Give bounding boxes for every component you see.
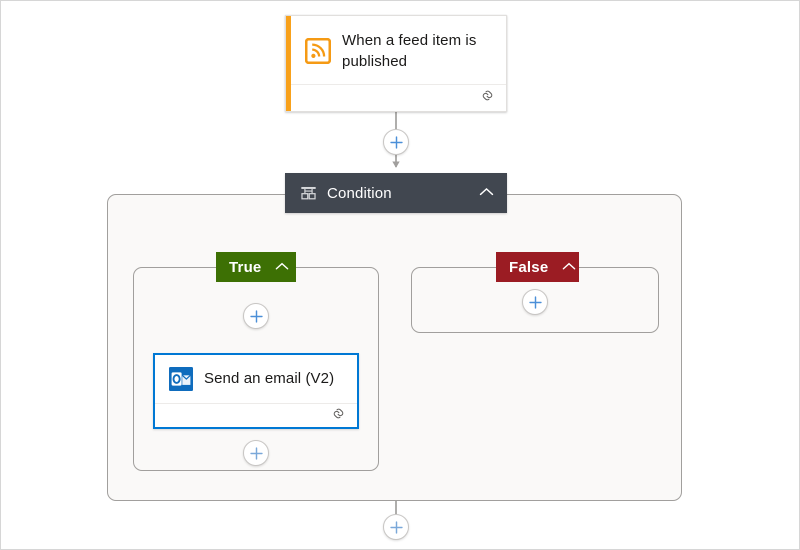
email-card-footer (155, 403, 357, 427)
trigger-card-footer (286, 84, 506, 111)
condition-card-title: Condition (327, 185, 479, 202)
chevron-up-icon[interactable] (275, 258, 289, 276)
add-step-after-trigger-button[interactable] (383, 129, 409, 155)
action-card-send-an-email-v2[interactable]: Send an email (V2) (153, 353, 359, 429)
chain-link-icon[interactable] (480, 88, 495, 108)
trigger-card-when-a-feed-item-is-published[interactable]: When a feed item is published (285, 15, 507, 112)
add-step-after-condition-button[interactable] (383, 514, 409, 540)
add-step-false-branch-button[interactable] (522, 289, 548, 315)
branch-label-true-text: True (229, 259, 261, 276)
add-step-true-before-email-button[interactable] (243, 303, 269, 329)
trigger-card-body: When a feed item is published (286, 16, 506, 84)
chain-link-icon[interactable] (331, 406, 346, 426)
trigger-accent-bar (286, 16, 291, 111)
branch-label-true[interactable]: True (216, 252, 296, 282)
trigger-card-title: When a feed item is published (342, 30, 492, 73)
email-card-body: Send an email (V2) (155, 355, 357, 403)
condition-card-header[interactable]: Condition (285, 173, 507, 213)
outlook-icon (169, 367, 193, 391)
flow-designer-canvas: When a feed item is published (0, 0, 800, 550)
condition-icon (300, 185, 317, 202)
chevron-up-icon[interactable] (562, 258, 576, 276)
email-card-title: Send an email (V2) (204, 368, 336, 389)
branch-label-false-text: False (509, 259, 548, 276)
branch-label-false[interactable]: False (496, 252, 579, 282)
chevron-up-icon[interactable] (479, 184, 494, 202)
add-step-true-after-email-button[interactable] (243, 440, 269, 466)
rss-icon (305, 38, 331, 64)
